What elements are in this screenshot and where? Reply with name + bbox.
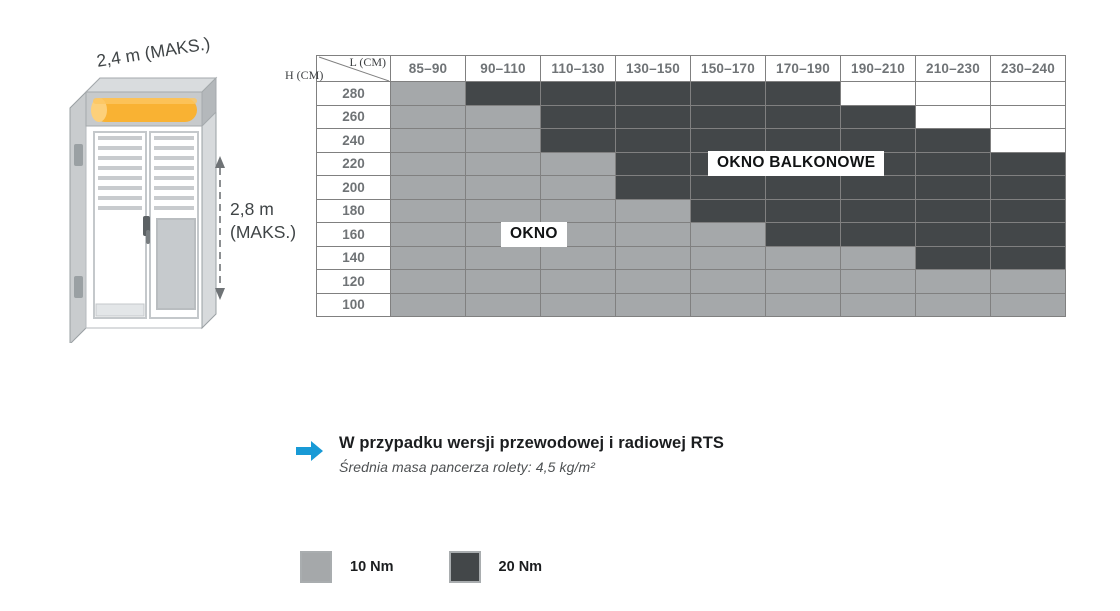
matrix-row: 120	[317, 270, 1066, 294]
row-axis-label: H (CM)	[285, 69, 323, 82]
matrix-cell	[691, 199, 766, 223]
matrix-cell	[541, 199, 616, 223]
col-header: 190–210	[841, 56, 916, 82]
legend-swatch-dark-icon	[449, 551, 481, 583]
matrix-cell	[691, 176, 766, 200]
legend-swatch-light-icon	[300, 551, 332, 583]
col-axis-label: L (CM)	[349, 56, 386, 69]
grid-label-okno-balkonowe: OKNO BALKONOWE	[708, 151, 884, 176]
matrix-cell	[916, 270, 991, 294]
matrix-cell	[691, 129, 766, 153]
matrix-cell	[766, 246, 841, 270]
legend-item-20nm: 20 Nm	[449, 551, 543, 583]
matrix-cell	[466, 270, 541, 294]
row-header: 280	[317, 82, 391, 106]
col-header: 90–110	[466, 56, 541, 82]
matrix-cell	[691, 82, 766, 106]
matrix-cell	[991, 105, 1066, 129]
matrix-cell	[391, 152, 466, 176]
matrix-cell	[616, 270, 691, 294]
matrix-row: 240	[317, 129, 1066, 153]
grid-label-okno: OKNO	[501, 222, 567, 247]
matrix-row: 160	[317, 223, 1066, 247]
matrix-cell	[541, 270, 616, 294]
row-header: 160	[317, 223, 391, 247]
matrix-cell	[466, 82, 541, 106]
matrix-cell	[616, 223, 691, 247]
matrix-cell	[991, 82, 1066, 106]
matrix-cell	[691, 246, 766, 270]
matrix-cell	[616, 199, 691, 223]
arrow-right-icon	[296, 440, 324, 467]
matrix-cell	[916, 246, 991, 270]
matrix-cell	[391, 82, 466, 106]
matrix-cell	[691, 293, 766, 317]
matrix-row: 180	[317, 199, 1066, 223]
matrix-cell	[391, 246, 466, 270]
matrix-cell	[466, 293, 541, 317]
matrix-cell	[541, 105, 616, 129]
matrix-cell	[916, 199, 991, 223]
matrix-cell	[766, 82, 841, 106]
matrix-cell	[466, 246, 541, 270]
matrix-cell	[691, 105, 766, 129]
col-header: 85–90	[391, 56, 466, 82]
matrix-row: 220	[317, 152, 1066, 176]
matrix-cell	[841, 82, 916, 106]
matrix-cell	[766, 293, 841, 317]
matrix-cell	[916, 223, 991, 247]
matrix-cell	[466, 152, 541, 176]
matrix-cell	[391, 199, 466, 223]
row-header: 180	[317, 199, 391, 223]
col-header: 110–130	[541, 56, 616, 82]
matrix-cell	[916, 105, 991, 129]
matrix-cell	[841, 223, 916, 247]
matrix-cell	[916, 129, 991, 153]
matrix-cell	[841, 293, 916, 317]
matrix-cell	[991, 129, 1066, 153]
matrix-cell	[766, 199, 841, 223]
note-text: W przypadku wersji przewodowej i radiowe…	[339, 434, 724, 475]
matrix-cell	[541, 176, 616, 200]
col-header: 150–170	[691, 56, 766, 82]
matrix-cell	[766, 129, 841, 153]
matrix-cell	[991, 270, 1066, 294]
legend-label-10nm: 10 Nm	[350, 559, 394, 575]
matrix-corner-cell: L (CM) H (CM)	[317, 56, 391, 82]
height-dimension-label-line1: 2,8 m	[230, 198, 296, 221]
matrix-cell	[466, 176, 541, 200]
balcony-door-illustration: 2,4 m (MAKS.) 2,8 m (MAKS.)	[60, 48, 320, 343]
matrix-cell	[391, 293, 466, 317]
matrix-cell	[391, 270, 466, 294]
matrix-cell	[991, 176, 1066, 200]
shutter-box	[86, 78, 216, 126]
matrix-cell	[391, 176, 466, 200]
matrix-cell	[916, 152, 991, 176]
height-dimension-label: 2,8 m (MAKS.)	[230, 198, 296, 244]
matrix-row: 140	[317, 246, 1066, 270]
matrix-body: 280260240220200180160140120100	[317, 82, 1066, 317]
row-header: 240	[317, 129, 391, 153]
matrix-cell	[991, 293, 1066, 317]
matrix-header-row: L (CM) H (CM) 85–90 90–110 110–130 130–1…	[317, 56, 1066, 82]
matrix-cell	[841, 199, 916, 223]
row-header: 120	[317, 270, 391, 294]
matrix-cell	[991, 152, 1066, 176]
matrix-cell	[616, 293, 691, 317]
matrix-cell	[841, 105, 916, 129]
note-subtext: Średnia masa pancerza rolety: 4,5 kg/m²	[339, 459, 724, 475]
matrix-row: 200	[317, 176, 1066, 200]
row-header: 220	[317, 152, 391, 176]
matrix-cell	[466, 199, 541, 223]
matrix-cell	[916, 176, 991, 200]
matrix-cell	[691, 223, 766, 247]
matrix-cell	[841, 270, 916, 294]
shutter-roller-orange	[91, 98, 197, 122]
matrix-cell	[841, 129, 916, 153]
col-header: 130–150	[616, 56, 691, 82]
size-matrix-table: L (CM) H (CM) 85–90 90–110 110–130 130–1…	[316, 55, 1066, 317]
matrix-cell	[841, 246, 916, 270]
matrix-cell	[991, 246, 1066, 270]
matrix-cell	[766, 176, 841, 200]
matrix-cell	[616, 105, 691, 129]
matrix-cell	[691, 270, 766, 294]
matrix-cell	[616, 176, 691, 200]
matrix-cell	[991, 199, 1066, 223]
row-header: 200	[317, 176, 391, 200]
row-header: 100	[317, 293, 391, 317]
matrix-cell	[766, 270, 841, 294]
size-matrix-container: L (CM) H (CM) 85–90 90–110 110–130 130–1…	[316, 55, 1066, 317]
matrix-cell	[616, 129, 691, 153]
matrix-header: L (CM) H (CM) 85–90 90–110 110–130 130–1…	[317, 56, 1066, 82]
matrix-cell	[841, 176, 916, 200]
note-headline: W przypadku wersji przewodowej i radiowe…	[339, 434, 724, 453]
matrix-cell	[541, 246, 616, 270]
matrix-cell	[541, 82, 616, 106]
matrix-cell	[466, 105, 541, 129]
matrix-cell	[541, 129, 616, 153]
legend-label-20nm: 20 Nm	[499, 559, 543, 575]
height-dimension-label-line2: (MAKS.)	[230, 221, 296, 244]
matrix-cell	[916, 293, 991, 317]
col-header: 170–190	[766, 56, 841, 82]
row-header: 140	[317, 246, 391, 270]
matrix-cell	[766, 105, 841, 129]
matrix-cell	[541, 293, 616, 317]
matrix-cell	[541, 152, 616, 176]
matrix-cell	[391, 129, 466, 153]
legend-item-10nm: 10 Nm	[300, 551, 394, 583]
matrix-cell	[391, 105, 466, 129]
legend: 10 Nm 20 Nm	[300, 551, 542, 583]
note-block: W przypadku wersji przewodowej i radiowe…	[296, 434, 724, 475]
matrix-cell	[766, 223, 841, 247]
matrix-row: 260	[317, 105, 1066, 129]
matrix-row: 280	[317, 82, 1066, 106]
matrix-row: 100	[317, 293, 1066, 317]
matrix-cell	[616, 246, 691, 270]
col-header: 210–230	[916, 56, 991, 82]
col-header: 230–240	[991, 56, 1066, 82]
row-header: 260	[317, 105, 391, 129]
matrix-cell	[391, 223, 466, 247]
matrix-cell	[616, 82, 691, 106]
matrix-cell	[916, 82, 991, 106]
balcony-door-drawing	[60, 48, 320, 343]
matrix-cell	[466, 129, 541, 153]
matrix-cell	[616, 152, 691, 176]
matrix-cell	[991, 223, 1066, 247]
